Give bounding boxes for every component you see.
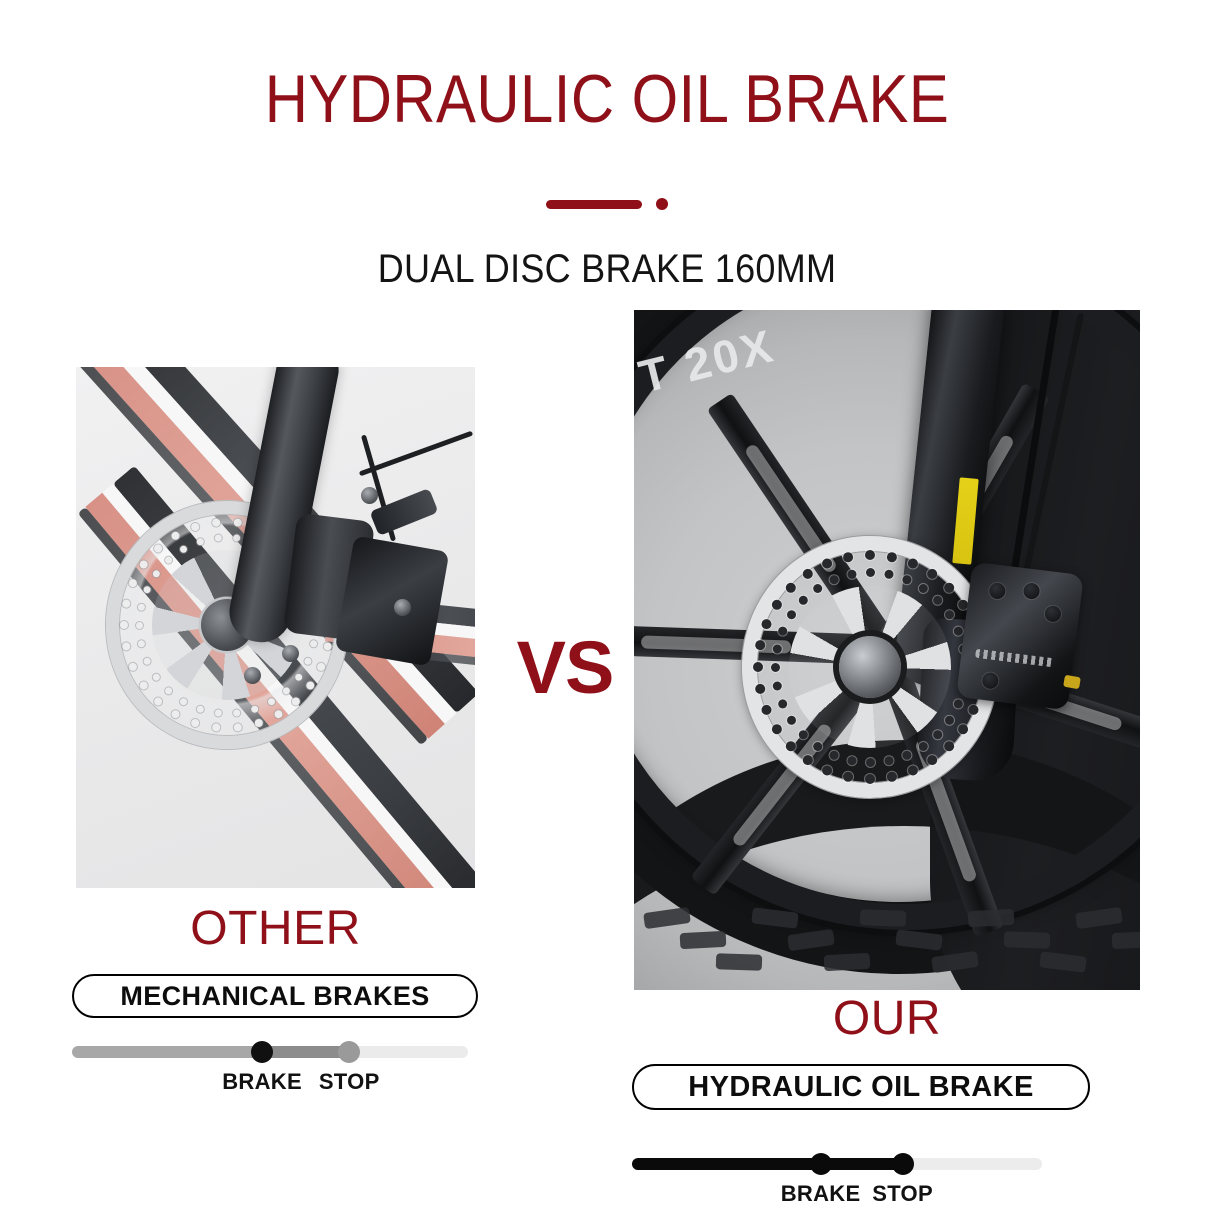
other-brake-type-pill[interactable]: MECHANICAL BRAKES: [72, 974, 478, 1018]
wheel-hub: [839, 636, 901, 698]
divider-bar-icon: [546, 200, 642, 209]
slider-knob-brake[interactable]: [810, 1153, 832, 1175]
slider-track[interactable]: [632, 1158, 1042, 1170]
slider-label-stop: STOP: [872, 1182, 933, 1206]
hydraulic-brake-caliper: [956, 562, 1084, 711]
tire-tread-block: [1004, 931, 1051, 949]
caliper-bolt: [394, 599, 411, 616]
page-subtitle: DUAL DISC BRAKE 160MM: [61, 246, 1154, 292]
caliper-brand-label: [975, 649, 1054, 667]
slider-knob-stop[interactable]: [892, 1153, 914, 1175]
tire-tread-block: [716, 953, 763, 971]
slider-segment: [262, 1046, 349, 1058]
other-stopping-distance-slider[interactable]: BRAKE STOP: [72, 1040, 468, 1090]
tire-tread-block: [1112, 931, 1140, 949]
tire-tread-block: [680, 931, 727, 949]
title-divider: [0, 196, 1214, 212]
slider-label-stop: STOP: [319, 1070, 380, 1094]
tire-tread-block: [860, 909, 907, 927]
slider-segment: [903, 1158, 1042, 1170]
caliper-bleed-port: [1063, 675, 1081, 690]
caliper-bolt: [361, 487, 378, 504]
mechanical-brake-caliper: [335, 536, 450, 667]
slider-segment: [821, 1158, 903, 1170]
our-stopping-distance-slider[interactable]: BRAKE STOP: [632, 1152, 1042, 1204]
tire-tread-block: [824, 953, 871, 971]
our-label: OUR: [634, 992, 1140, 1046]
our-product-photo: T 20X: [634, 310, 1140, 990]
caliper-bolt: [1044, 605, 1062, 623]
caliper-bolt: [988, 582, 1006, 600]
infographic-page: HYDRAULIC OIL BRAKE DUAL DISC BRAKE 160M…: [0, 0, 1214, 1214]
slider-segment: [349, 1046, 468, 1058]
slider-knob-stop[interactable]: [338, 1041, 360, 1063]
slider-label-brake: BRAKE: [222, 1070, 302, 1094]
vs-badge: VS: [500, 630, 630, 706]
rotor-bolt: [244, 667, 261, 684]
our-brake-type-pill[interactable]: HYDRAULIC OIL BRAKE: [632, 1064, 1090, 1110]
other-label: OTHER: [76, 902, 475, 956]
other-brake-type-text: MECHANICAL BRAKES: [120, 981, 429, 1012]
other-product-photo: [76, 367, 475, 888]
caliper-bolt: [981, 672, 999, 690]
our-brake-type-text: HYDRAULIC OIL BRAKE: [688, 1071, 1033, 1104]
slider-knob-brake[interactable]: [251, 1041, 273, 1063]
slider-segment: [72, 1046, 262, 1058]
slider-segment: [632, 1158, 821, 1170]
caliper-bolt: [1023, 582, 1041, 600]
tire-tread-block: [968, 909, 1015, 927]
divider-dot-icon: [656, 198, 668, 210]
rotor-bolt: [282, 645, 299, 662]
slider-label-brake: BRAKE: [781, 1182, 861, 1206]
page-title: HYDRAULIC OIL BRAKE: [73, 62, 1141, 136]
